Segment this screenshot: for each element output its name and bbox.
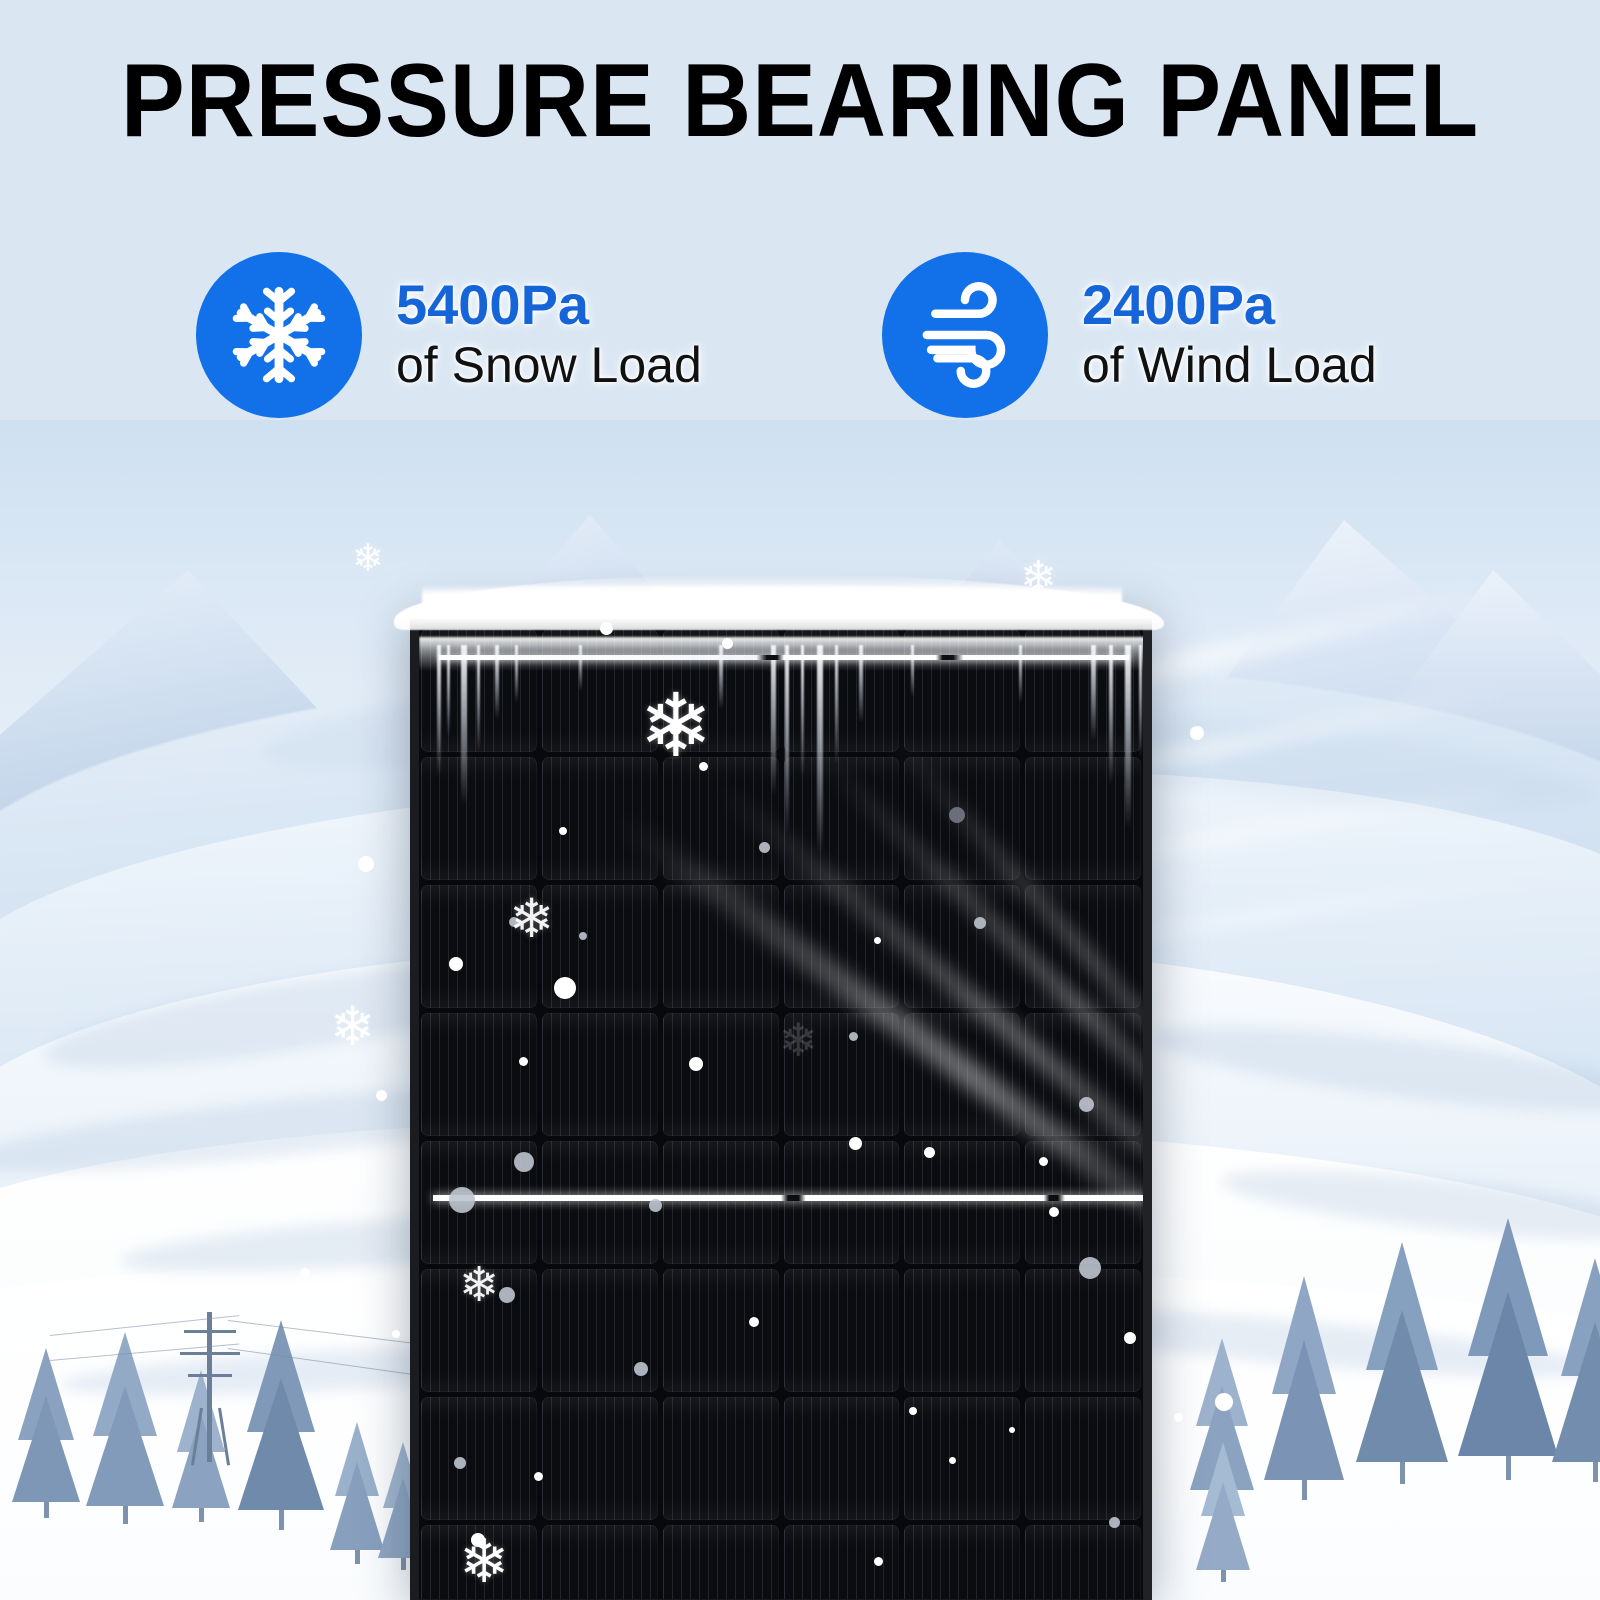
conifer-tree	[12, 1348, 80, 1518]
snowflake-icon	[196, 252, 362, 418]
conifer-tree	[86, 1332, 164, 1524]
snow-particle	[1174, 1413, 1183, 1422]
conifer-tree	[1264, 1276, 1344, 1500]
panel-snow-cap	[402, 600, 1162, 660]
snow-particle	[358, 856, 374, 872]
snowflake-icon: ❄	[352, 540, 384, 578]
snow-particle	[376, 1090, 387, 1101]
snow-particle	[600, 622, 613, 635]
power-pylon	[178, 1312, 242, 1462]
snow-particle	[890, 596, 899, 605]
conifer-tree	[1356, 1242, 1448, 1484]
feature-badge-snow-load[interactable]: 5400Pa of Snow Load	[196, 252, 702, 418]
snow-particle	[1190, 726, 1204, 740]
snow-particle	[722, 638, 733, 649]
snow-load-value: 5400Pa	[396, 275, 702, 335]
feature-badge-wind-load[interactable]: 2400Pa of Wind Load	[882, 252, 1377, 418]
snow-particle	[392, 1330, 400, 1338]
snow-particle	[1215, 1393, 1233, 1411]
wind-icon	[882, 252, 1048, 418]
wind-load-value: 2400Pa	[1082, 275, 1377, 335]
feature-text-snow-load: 5400Pa of Snow Load	[396, 275, 702, 394]
snowflake-icon: ❄	[330, 1000, 375, 1054]
conifer-tree	[1196, 1442, 1250, 1582]
conifer-tree	[1552, 1258, 1600, 1482]
conifer-tree	[1458, 1218, 1558, 1480]
solar-panel: ❄ ❄ ❄ ❄ ❄	[410, 618, 1152, 1600]
snow-load-label: of Snow Load	[396, 336, 702, 395]
panel-frame	[410, 618, 1152, 1600]
product-feature-banner: ❄ ❄ ❄ ❄ ❄	[0, 0, 1600, 1600]
feature-text-wind-load: 2400Pa of Wind Load	[1082, 275, 1377, 394]
snow-particle	[300, 1268, 310, 1278]
page-title: PRESSURE BEARING PANEL	[64, 42, 1536, 161]
snowflake-icon: ❄	[1020, 556, 1057, 600]
conifer-tree	[330, 1422, 384, 1564]
wind-load-label: of Wind Load	[1082, 336, 1377, 395]
